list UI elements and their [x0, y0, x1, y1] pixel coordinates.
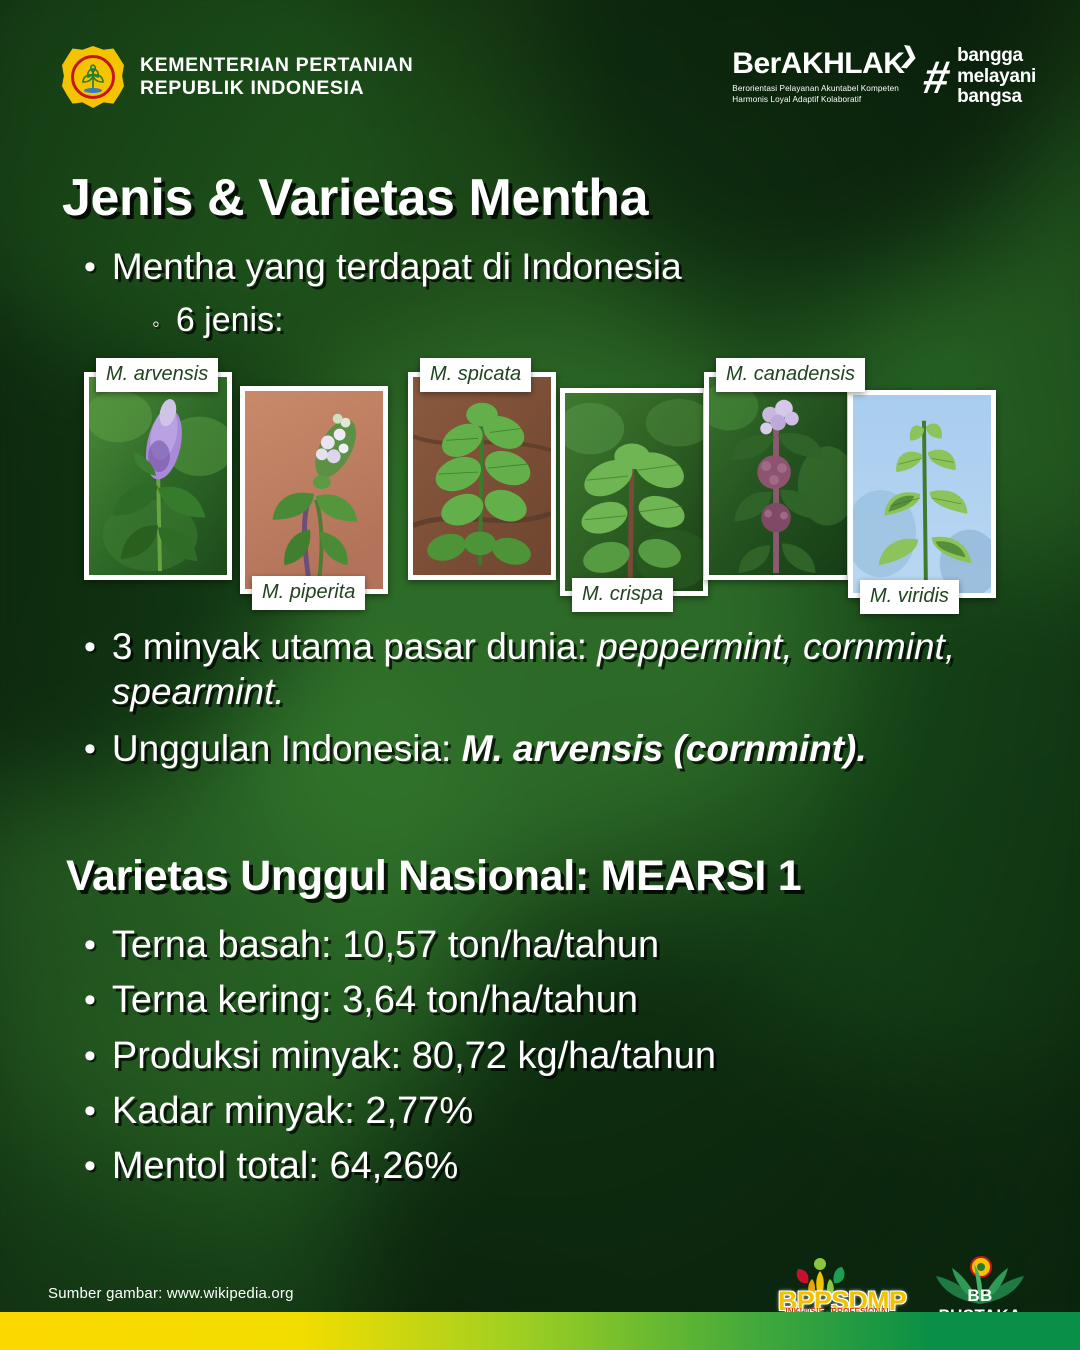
stat-text: Produksi minyak: 80,72 kg/ha/tahun — [112, 1033, 716, 1079]
berakhlak-logo: BerAKHLAK ❯ Berorientasi Pelayanan Akunt… — [732, 49, 904, 105]
species-label: M. crispa — [572, 578, 673, 612]
stat-text: Terna basah: 10,57 ton/ha/tahun — [112, 922, 659, 968]
species-card[interactable]: M. crispa — [560, 388, 708, 596]
stat-text: Terna kering: 3,64 ton/ha/tahun — [112, 977, 638, 1023]
stat-value: 10,57 ton/ha/tahun — [342, 924, 659, 966]
poster-header: KEMENTERIAN PERTANIAN REPUBLIK INDONESIA… — [0, 46, 1080, 108]
m-arvensis-illustration — [89, 377, 227, 575]
m-viridis-illustration — [853, 395, 991, 593]
species-photo — [565, 393, 703, 591]
bullet-dot-icon: • — [84, 1039, 96, 1073]
stat-row: • Terna basah: 10,57 ton/ha/tahun — [84, 922, 1024, 968]
bangga-line-3: bangsa — [957, 87, 1036, 108]
stat-label: Terna basah: — [112, 924, 332, 966]
species-photo — [245, 391, 383, 589]
berakhlak-tagline: Berorientasi Pelayanan Akuntabel Kompete… — [732, 83, 904, 105]
ministry-line-1: KEMENTERIAN PERTANIAN — [140, 54, 413, 77]
bullet-text-world-oils: 3 minyak utama pasar dunia: peppermint, … — [112, 624, 1014, 714]
bullet-bold-part: M. arvensis (cornmint). — [462, 728, 867, 769]
campaign-logos: BerAKHLAK ❯ Berorientasi Pelayanan Akunt… — [732, 46, 1036, 108]
stat-value: 3,64 ton/ha/tahun — [342, 979, 638, 1021]
m-spicata-illustration — [413, 377, 551, 575]
chevron-right-icon: ❯ — [898, 42, 920, 70]
ministry-name: KEMENTERIAN PERTANIAN REPUBLIK INDONESIA — [140, 54, 413, 100]
berakhlak-tagline-line-1: Berorientasi Pelayanan Akuntabel Kompete… — [732, 83, 904, 94]
stat-label: Kadar minyak: — [112, 1090, 355, 1132]
hashtag-icon: # — [921, 59, 953, 96]
bullet-item-indonesia-flagship: • Unggulan Indonesia: M. arvensis (cornm… — [84, 726, 1014, 771]
bangga-melayani-bangsa-logo: # bangga melayani bangsa — [924, 46, 1036, 108]
sub-bullet-text: 6 jenis: — [176, 300, 284, 341]
bangga-line-1: bangga — [957, 46, 1036, 67]
sub-bullet-item: ◦ 6 jenis: — [152, 300, 284, 341]
bullet-text-indonesia-flagship: Unggulan Indonesia: M. arvensis (cornmin… — [112, 726, 867, 771]
species-card[interactable]: M. viridis — [848, 390, 996, 598]
species-label: M. canadensis — [716, 358, 865, 392]
lead-bullet-text: Mentha yang terdapat di Indonesia — [112, 244, 682, 289]
bullet-dot-icon: • — [84, 732, 96, 766]
bangga-line-2: melayani — [957, 67, 1036, 88]
infographic-poster: KEMENTERIAN PERTANIAN REPUBLIK INDONESIA… — [0, 0, 1080, 1350]
berakhlak-wordmark: BerAKHLAK — [732, 49, 904, 79]
bullet-dot-icon: • — [84, 1094, 96, 1128]
m-piperita-illustration — [245, 391, 383, 589]
species-label: M. viridis — [860, 580, 959, 614]
species-photo — [853, 395, 991, 593]
oil-market-bullets: • 3 minyak utama pasar dunia: peppermint… — [84, 624, 1014, 783]
species-card[interactable]: M. piperita — [240, 386, 388, 594]
species-label: M. arvensis — [96, 358, 218, 392]
bullet-circle-icon: ◦ — [152, 313, 160, 335]
species-card[interactable]: M. arvensis — [84, 372, 232, 580]
stat-value: 80,72 kg/ha/tahun — [412, 1035, 716, 1077]
page-title: Jenis & Varietas Mentha — [62, 168, 648, 228]
stat-text: Mentol total: 64,26% — [112, 1143, 458, 1189]
species-label: M. spicata — [420, 358, 531, 392]
m-crispa-illustration — [565, 393, 703, 591]
stat-value: 64,26% — [329, 1145, 458, 1187]
stat-label: Mentol total: — [112, 1145, 319, 1187]
ministry-seal-icon — [62, 46, 124, 108]
ministry-line-2: REPUBLIK INDONESIA — [140, 77, 413, 100]
stat-row: • Kadar minyak: 2,77% — [84, 1088, 1024, 1134]
stat-label: Produksi minyak: — [112, 1035, 401, 1077]
stat-row: • Produksi minyak: 80,72 kg/ha/tahun — [84, 1033, 1024, 1079]
stat-value: 2,77% — [365, 1090, 473, 1132]
bullet-dot-icon: • — [84, 1149, 96, 1183]
species-label: M. piperita — [252, 576, 365, 610]
species-photo — [709, 377, 847, 575]
m-canadensis-illustration — [709, 377, 847, 575]
stat-row: • Terna kering: 3,64 ton/ha/tahun — [84, 977, 1024, 1023]
species-gallery: M. arvensis — [84, 372, 1004, 604]
bullet-plain-part: 3 minyak utama pasar dunia: — [112, 626, 597, 667]
bullet-plain-part: Unggulan Indonesia: — [112, 728, 462, 769]
bullet-dot-icon: • — [84, 250, 96, 284]
bullet-item-world-oils: • 3 minyak utama pasar dunia: peppermint… — [84, 624, 1014, 714]
ministry-brand: KEMENTERIAN PERTANIAN REPUBLIK INDONESIA — [62, 46, 413, 108]
lead-bullet-item: • Mentha yang terdapat di Indonesia — [84, 244, 682, 289]
berakhlak-tagline-line-2: Harmonis Loyal Adaptif Kolaboratif — [732, 94, 904, 105]
bangga-lines: bangga melayani bangsa — [957, 46, 1036, 108]
species-card[interactable]: M. spicata — [408, 372, 556, 580]
stat-row: • Mentol total: 64,26% — [84, 1143, 1024, 1189]
bottom-accent-bar — [0, 1312, 1080, 1350]
variety-stats-list: • Terna basah: 10,57 ton/ha/tahun • Tern… — [84, 922, 1024, 1199]
image-source-credit: Sumber gambar: www.wikipedia.org — [48, 1285, 294, 1302]
stat-text: Kadar minyak: 2,77% — [112, 1088, 473, 1134]
species-card[interactable]: M. canadensis — [704, 372, 852, 580]
bullet-dot-icon: • — [84, 928, 96, 962]
species-photo — [413, 377, 551, 575]
bullet-dot-icon: • — [84, 983, 96, 1017]
bullet-dot-icon: • — [84, 630, 96, 664]
section-heading: Varietas Unggul Nasional: MEARSI 1 — [66, 852, 801, 901]
species-photo — [89, 377, 227, 575]
stat-label: Terna kering: — [112, 979, 332, 1021]
